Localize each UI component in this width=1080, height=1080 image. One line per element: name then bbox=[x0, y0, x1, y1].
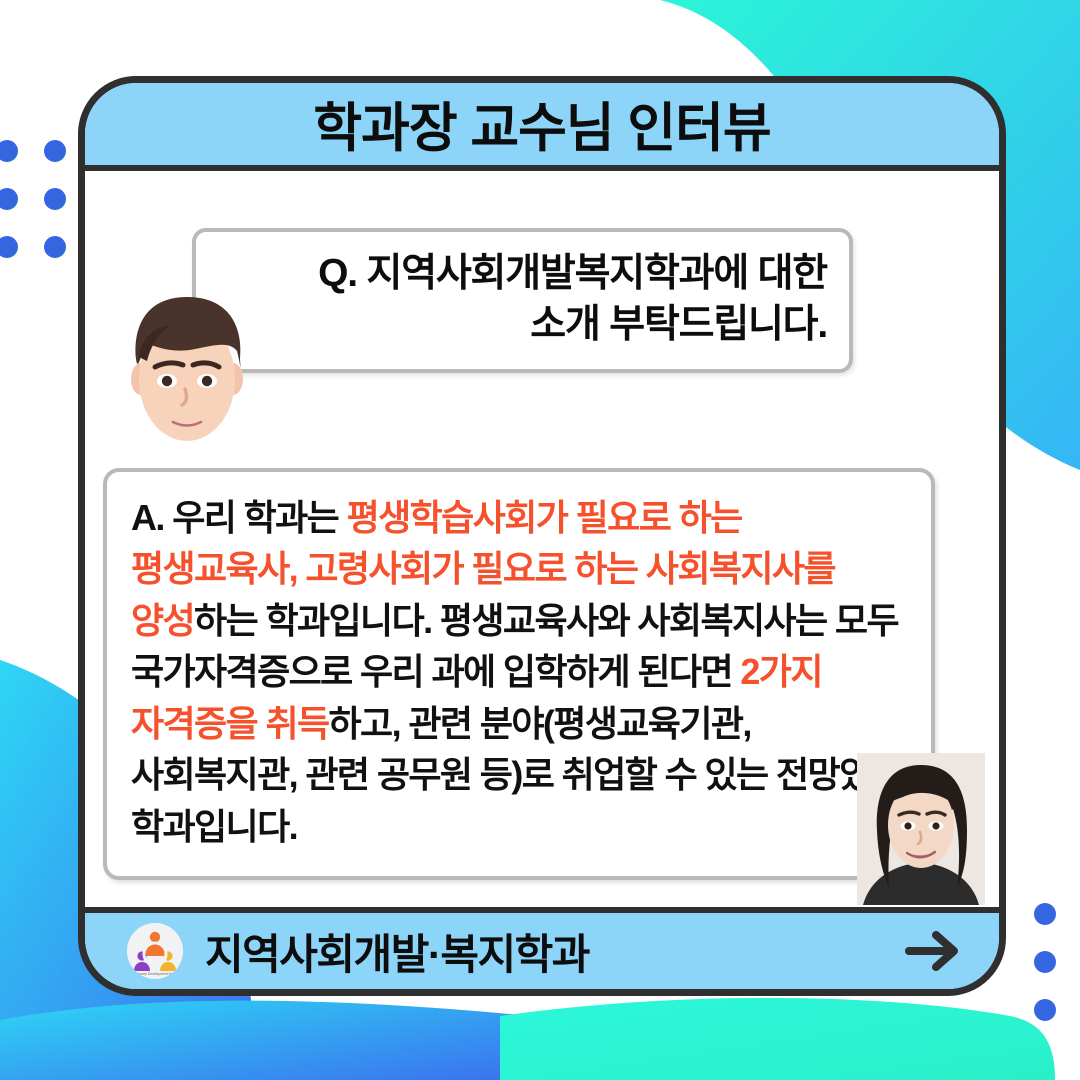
decor-dot bbox=[44, 140, 66, 162]
arrow-right-icon[interactable] bbox=[903, 926, 965, 976]
blob-bottom-teal bbox=[500, 998, 1055, 1080]
blob-bottom-band-blue bbox=[0, 1001, 520, 1080]
avatar-student bbox=[119, 283, 255, 459]
answer-text: A. 우리 학과는 평생학습사회가 필요로 하는 평생교육사, 고령사회가 필요… bbox=[131, 492, 909, 852]
decor-dot bbox=[44, 188, 66, 210]
card-body: Q. 지역사회개발복지학과에 대한 소개 부탁드립니다. A. 우리 학과는 평… bbox=[85, 171, 999, 909]
question-line-1: Q. 지역사회개발복지학과에 대한 bbox=[218, 248, 827, 299]
decor-dot bbox=[0, 140, 18, 162]
question-bubble: Q. 지역사회개발복지학과에 대한 소개 부탁드립니다. bbox=[192, 228, 853, 373]
answer-plain-span: A. 우리 학과는 bbox=[131, 497, 347, 538]
interview-card: 학과장 교수님 인터뷰 bbox=[78, 76, 1006, 996]
decor-dot bbox=[44, 236, 66, 258]
page-title: 학과장 교수님 인터뷰 bbox=[313, 86, 770, 162]
department-name: 지역사회개발·복지학과 bbox=[205, 921, 589, 982]
answer-bubble: A. 우리 학과는 평생학습사회가 필요로 하는 평생교육사, 고령사회가 필요… bbox=[103, 468, 935, 880]
question-text: Q. 지역사회개발복지학과에 대한 소개 부탁드립니다. bbox=[218, 248, 827, 351]
logo-caption: Community Development Welfare bbox=[130, 972, 181, 976]
avatar-professor bbox=[857, 753, 985, 905]
decor-dot bbox=[1034, 951, 1056, 973]
dot-grid-right bbox=[1034, 903, 1080, 1021]
card-footer: Community Development Welfare 지역사회개발·복지학… bbox=[85, 907, 999, 989]
card-header: 학과장 교수님 인터뷰 bbox=[85, 83, 999, 171]
department-logo: Community Development Welfare bbox=[127, 923, 183, 979]
decor-dot bbox=[1034, 999, 1056, 1021]
question-line-2: 소개 부탁드립니다. bbox=[218, 299, 827, 350]
decor-dot bbox=[0, 236, 18, 258]
decor-dot bbox=[1034, 903, 1056, 925]
decor-dot bbox=[0, 188, 18, 210]
